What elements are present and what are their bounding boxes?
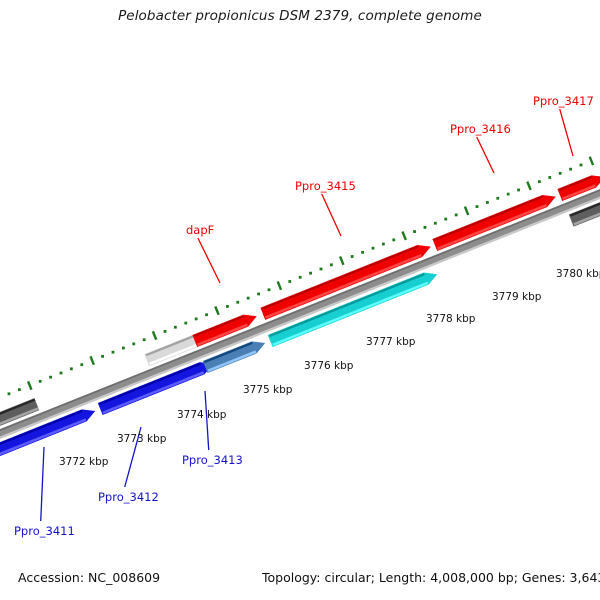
ruler-minor-tick — [299, 276, 302, 279]
ruler-minor-tick — [434, 222, 437, 225]
ruler-minor-tick — [392, 238, 395, 241]
ruler-minor-tick — [320, 268, 323, 271]
ruler-minor-tick — [122, 347, 125, 350]
ruler-major-tick — [403, 232, 406, 240]
ruler-tick-label: 3775 kbp — [243, 384, 292, 396]
ruler-major-tick — [28, 381, 31, 389]
ruler-minor-tick — [361, 251, 364, 254]
ruler-minor-tick — [49, 376, 52, 379]
ruler-minor-tick — [247, 297, 250, 300]
gene-label-ppro_3412[interactable]: Ppro_3412 — [98, 490, 159, 504]
ruler-minor-tick — [517, 189, 520, 192]
ruler-major-tick — [91, 356, 94, 364]
ruler-minor-tick — [444, 218, 447, 221]
gene-label-ppro_3415[interactable]: Ppro_3415 — [295, 179, 356, 193]
ruler-minor-tick — [236, 301, 239, 304]
ruler-minor-tick — [476, 205, 479, 208]
gene-label-ppro_3413[interactable]: Ppro_3413 — [182, 453, 243, 467]
topology-text: Topology: circular; Length: 4,008,000 bp… — [262, 570, 600, 585]
ruler-minor-tick — [569, 168, 572, 171]
ruler-major-tick — [465, 207, 468, 215]
forward-strand-track[interactable] — [0, 197, 600, 459]
Ppro_3412-body-highlight — [103, 372, 204, 412]
ruler-minor-tick — [486, 201, 489, 204]
ruler-minor-tick — [18, 388, 21, 391]
ruler-minor-tick — [132, 342, 135, 345]
Ppro_3416-red-highlight — [437, 205, 546, 249]
ruler-tick-label: 3777 kbp — [366, 336, 415, 348]
genome-backbone — [0, 187, 600, 441]
ruler-minor-tick — [8, 392, 11, 395]
ruler-tick-label: 3772 kbp — [59, 456, 108, 468]
leader-line-ppro_3411 — [41, 447, 44, 521]
leader-line-ppro_3416 — [477, 137, 494, 173]
ruler-minor-tick — [39, 380, 42, 383]
gene-label-dapf[interactable]: dapF — [186, 223, 214, 237]
ruler-minor-tick — [268, 288, 271, 291]
gene-label-ppro_3416[interactable]: Ppro_3416 — [450, 122, 511, 136]
ruler-minor-tick — [382, 243, 385, 246]
ruler-tick-label: 3779 kbp — [492, 291, 541, 303]
leader-line-dapf — [198, 238, 220, 283]
gene-label-ppro_3417[interactable]: Ppro_3417 — [533, 94, 594, 108]
ruler-minor-tick — [112, 351, 115, 354]
ruler-minor-tick — [580, 164, 583, 167]
ruler-minor-tick — [184, 322, 187, 325]
leader-line-ppro_3415 — [322, 194, 341, 236]
leader-line-ppro_3417 — [560, 109, 573, 156]
accession-text: Accession: NC_008609 — [18, 570, 160, 585]
coordinate-ruler — [0, 155, 600, 414]
ruler-minor-tick — [257, 293, 260, 296]
ruler-minor-tick — [538, 180, 541, 183]
ruler-minor-tick — [288, 280, 291, 283]
ruler-minor-tick — [309, 272, 312, 275]
ruler-minor-tick — [195, 318, 198, 321]
ruler-major-tick — [590, 157, 593, 165]
ruler-tick-label: 3773 kbp — [117, 433, 166, 445]
ruler-minor-tick — [226, 305, 229, 308]
ruler-tick-label: 3774 kbp — [177, 409, 226, 421]
ruler-minor-tick — [205, 313, 208, 316]
ruler-minor-tick — [101, 355, 104, 358]
genome-map-viewer: Pelobacter propionicus DSM 2379, complet… — [0, 0, 600, 600]
ruler-minor-tick — [559, 172, 562, 175]
ruler-minor-tick — [496, 197, 499, 200]
ruler-major-tick — [215, 306, 218, 314]
ruler-minor-tick — [330, 263, 333, 266]
ruler-major-tick — [278, 281, 281, 289]
ruler-major-tick — [340, 256, 343, 264]
ruler-minor-tick — [164, 330, 167, 333]
ruler-minor-tick — [80, 363, 83, 366]
ruler-minor-tick — [548, 176, 551, 179]
ruler-tick-label: 3778 kbp — [426, 313, 475, 325]
ruler-minor-tick — [455, 214, 458, 217]
ruler-minor-tick — [507, 193, 510, 196]
status-bar: Accession: NC_008609 Topology: circular;… — [0, 558, 600, 600]
ruler-major-tick — [527, 182, 530, 190]
ruler-minor-tick — [60, 372, 63, 375]
ruler-minor-tick — [70, 367, 73, 370]
ruler-minor-tick — [143, 338, 146, 341]
ruler-minor-tick — [372, 247, 375, 250]
ruler-tick-label: 3776 kbp — [304, 360, 353, 372]
ruler-tick-label: 3780 kbp — [556, 268, 600, 280]
ruler-major-tick — [153, 331, 156, 339]
gene-label-ppro_3411[interactable]: Ppro_3411 — [14, 524, 75, 538]
ruler-minor-tick — [413, 230, 416, 233]
ruler-minor-tick — [424, 226, 427, 229]
ruler-minor-tick — [174, 326, 177, 329]
ruler-minor-tick — [351, 255, 354, 258]
